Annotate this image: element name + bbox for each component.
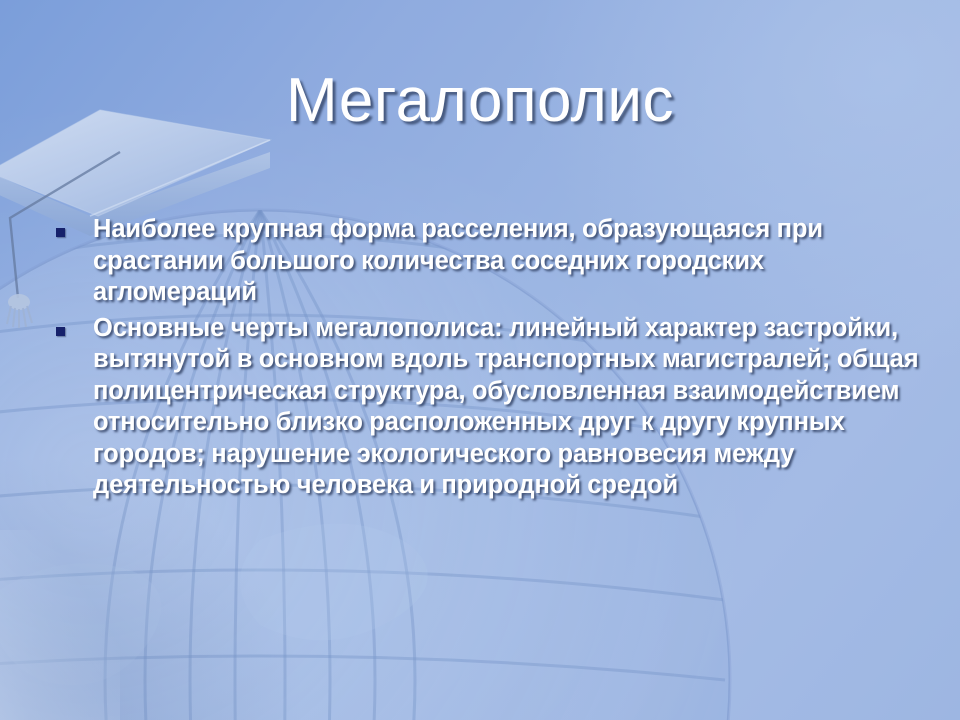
presentation-slide: Мегалополис Наиболее крупная форма рассе… <box>0 0 960 720</box>
list-item-text: Наиболее крупная форма расселения, образ… <box>93 214 928 309</box>
list-item: Наиболее крупная форма расселения, образ… <box>56 214 928 309</box>
square-bullet-icon <box>56 228 65 237</box>
list-item: Основные черты мегалополиса: линейный ха… <box>56 313 928 502</box>
list-item-text: Основные черты мегалополиса: линейный ха… <box>93 313 928 502</box>
page-title: Мегалополис <box>0 68 960 133</box>
slide-content: Мегалополис Наиболее крупная форма рассе… <box>0 0 960 720</box>
square-bullet-icon <box>56 327 65 336</box>
bullet-list: Наиболее крупная форма расселения, образ… <box>56 214 928 506</box>
